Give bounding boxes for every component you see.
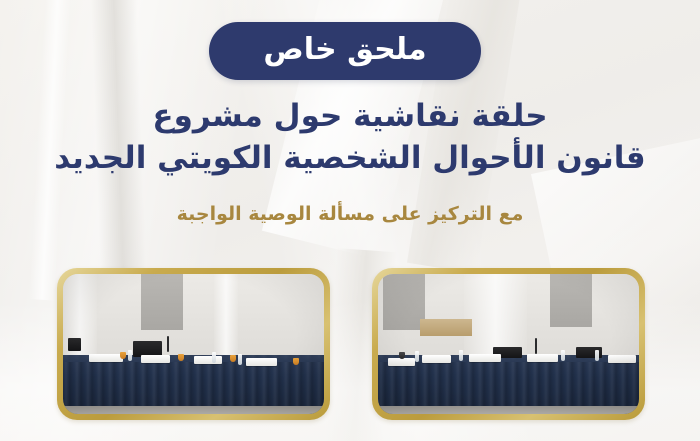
photo-nameplate	[388, 358, 414, 366]
photo-floor	[63, 406, 324, 414]
badge-label: ملحق خاص	[263, 35, 426, 68]
photo-nameplate	[527, 354, 558, 362]
photo-water-bottle	[128, 350, 132, 361]
photo-laptop	[68, 338, 81, 351]
photo-microphone	[535, 338, 537, 353]
photo-nameplate	[469, 354, 500, 362]
photo-wall-panel	[383, 274, 425, 330]
photo-nameplate	[141, 355, 170, 363]
photo-wall-panel	[141, 274, 183, 330]
photo-water-bottle	[561, 350, 565, 361]
photo-curtain	[464, 274, 527, 358]
poster-canvas: ملحق خاص حلقة نقاشية حول مشروع قانون الأ…	[0, 0, 700, 441]
photo-curtain	[214, 274, 237, 361]
photo-wall	[63, 274, 324, 361]
photo-cup	[178, 354, 184, 361]
headline-line-1: حلقة نقاشية حول مشروع	[0, 95, 700, 137]
photo-nameplate	[246, 358, 277, 366]
special-supplement-badge: ملحق خاص	[209, 22, 481, 80]
photo-floor	[378, 406, 639, 414]
headline-line-2: قانون الأحوال الشخصية الكويتي الجديد	[0, 137, 700, 179]
panel-photo-left-frame	[57, 268, 330, 420]
photo-wall-panel	[550, 274, 592, 327]
photo-water-bottle	[212, 352, 216, 363]
page-title: حلقة نقاشية حول مشروع قانون الأحوال الشخ…	[0, 95, 700, 179]
photo-wood-panel	[420, 319, 472, 336]
photo-water-bottle	[238, 354, 242, 365]
photo-water-bottle	[595, 350, 599, 361]
panel-photo-right	[378, 274, 639, 414]
panel-photo-right-frame	[372, 268, 645, 420]
photo-nameplate	[89, 354, 123, 362]
photo-nameplate	[194, 356, 223, 364]
photo-water-bottle	[459, 350, 463, 361]
page-subtitle: مع التركيز على مسألة الوصية الواجبة	[0, 203, 700, 225]
panel-photo-left	[63, 274, 324, 414]
photo-nameplate	[422, 355, 451, 363]
photo-nameplate	[608, 355, 637, 363]
photo-water-bottle	[415, 351, 419, 362]
photo-cup	[293, 358, 299, 365]
